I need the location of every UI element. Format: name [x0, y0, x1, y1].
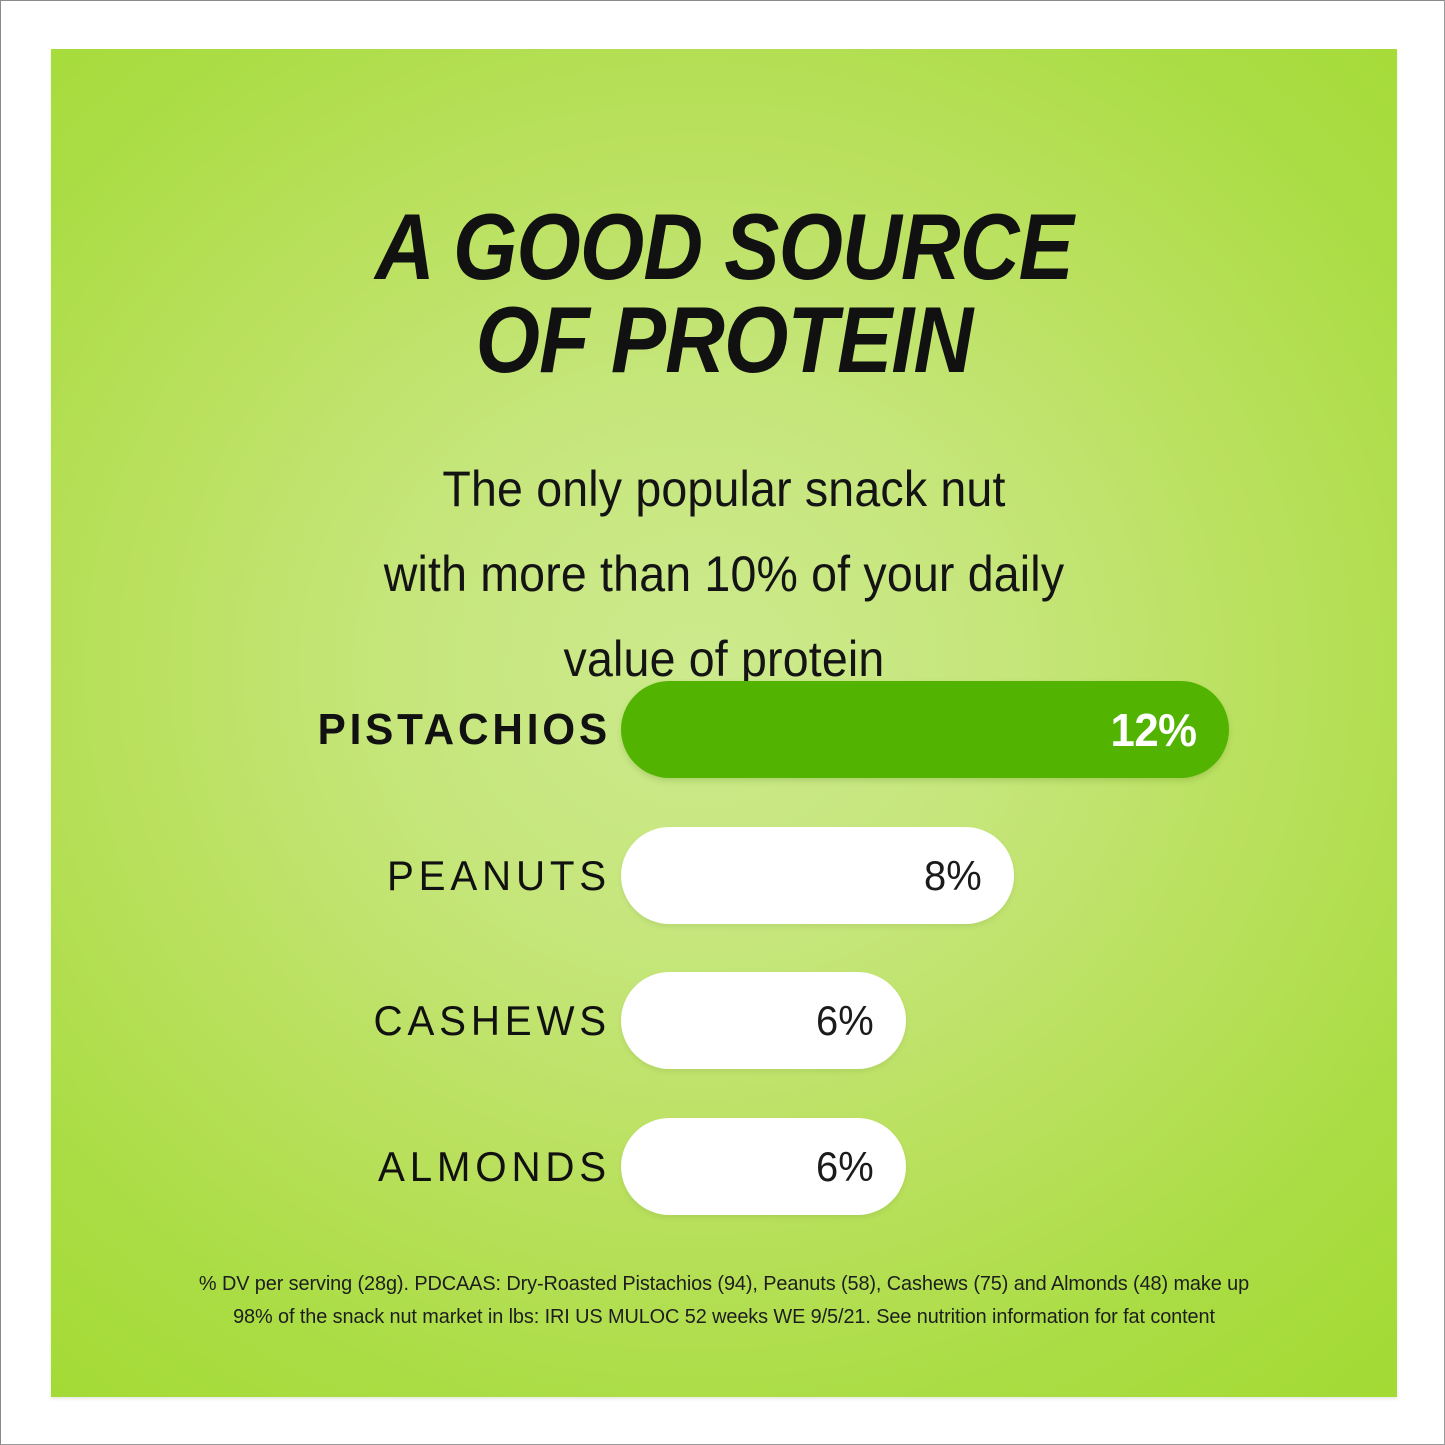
bar-value-pistachios: 12%: [1111, 703, 1197, 757]
bar-row-cashews: CASHEWS 6%: [51, 972, 1397, 1069]
bar-label-almonds: ALMONDS: [73, 1118, 611, 1215]
bar-track-cashews: 6%: [621, 972, 906, 1069]
bar-track-almonds: 6%: [621, 1118, 906, 1215]
bar-row-peanuts: PEANUTS 8%: [51, 827, 1397, 924]
bar-row-almonds: ALMONDS 6%: [51, 1118, 1397, 1215]
bar-almonds: 6%: [621, 1118, 906, 1215]
bar-track-peanuts: 8%: [621, 827, 1014, 924]
page-frame: A GOOD SOURCE OF PROTEIN The only popula…: [0, 0, 1445, 1445]
footnote: % DV per serving (28g). PDCAAS: Dry-Roas…: [71, 1267, 1377, 1333]
bar-value-cashews: 6%: [816, 997, 874, 1045]
footnote-line-2: 98% of the snack nut market in lbs: IRI …: [71, 1300, 1377, 1333]
bar-row-pistachios: PISTACHIOS 12%: [51, 681, 1397, 778]
footnote-line-1: % DV per serving (28g). PDCAAS: Dry-Roas…: [71, 1267, 1377, 1300]
bar-label-peanuts: PEANUTS: [73, 827, 611, 924]
bar-value-almonds: 6%: [816, 1143, 874, 1191]
bar-label-pistachios: PISTACHIOS: [73, 681, 611, 778]
protein-bar-chart: PISTACHIOS 12% PEANUTS 8% CASHEWS: [51, 681, 1397, 1251]
bar-value-peanuts: 8%: [924, 852, 982, 900]
page-title: A GOOD SOURCE OF PROTEIN: [132, 200, 1316, 386]
bar-peanuts: 8%: [621, 827, 1014, 924]
bar-track-pistachios: 12%: [621, 681, 1229, 778]
infographic-poster: A GOOD SOURCE OF PROTEIN The only popula…: [51, 49, 1397, 1397]
bar-pistachios: 12%: [621, 681, 1229, 778]
bar-cashews: 6%: [621, 972, 906, 1069]
subtitle-text: The only popular snack nut with more tha…: [98, 447, 1350, 702]
bar-label-cashews: CASHEWS: [73, 972, 611, 1069]
